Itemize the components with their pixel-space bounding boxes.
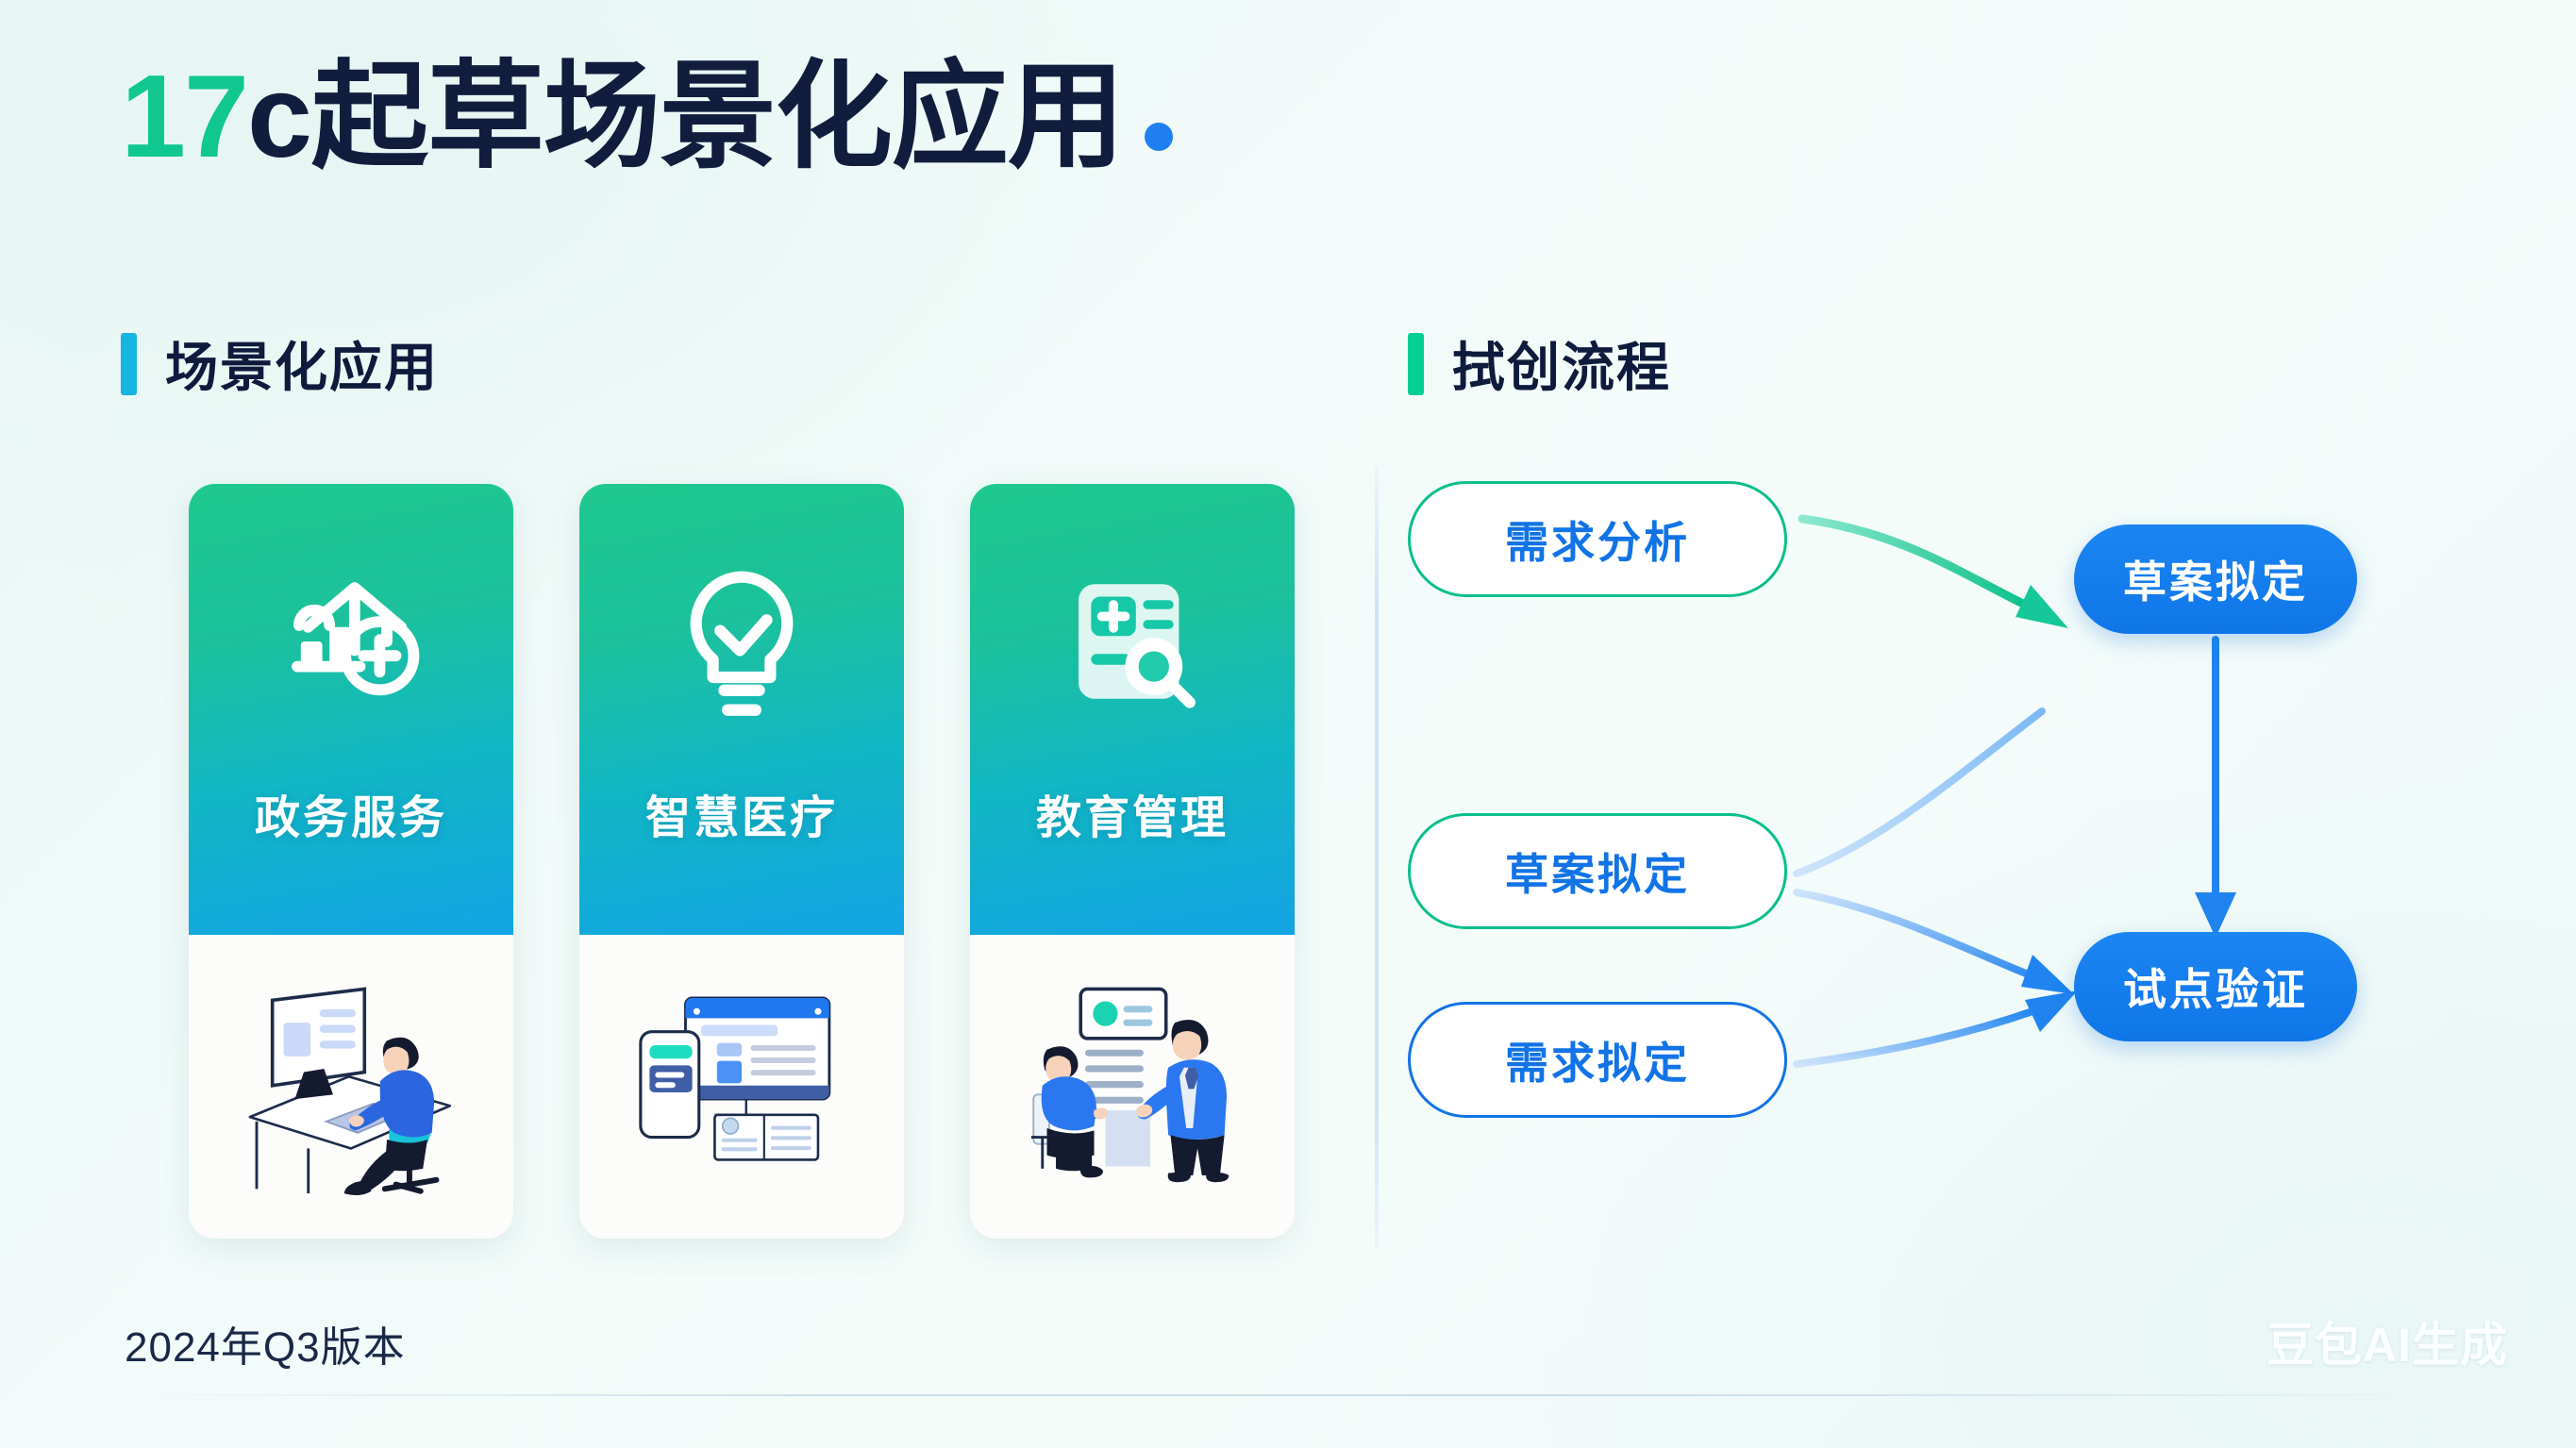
browser-phone-card-illustration (605, 969, 878, 1205)
flow-node-label: 需求拟定 (1505, 1029, 1690, 1091)
flow-node-draft-left[interactable]: 草案拟定 (1408, 813, 1787, 929)
flow-node-draft-right[interactable]: 草案拟定 (2074, 524, 2357, 634)
flow-node-req-analysis[interactable]: 需求分析 (1408, 481, 1787, 597)
flow-node-req-draft[interactable]: 需求拟定 (1408, 1002, 1787, 1118)
section-accent-bar-icon (121, 333, 137, 395)
scenario-card-label: 政务服务 (255, 780, 447, 846)
section-header-right: 拭创流程 (1408, 325, 1671, 402)
page-title: 17 c起草场景化应用 (121, 58, 1173, 175)
calculator-search-icon (1043, 552, 1222, 731)
flow-node-label: 试点验证 (2123, 956, 2308, 1018)
scenario-card[interactable]: 政务服务 (189, 484, 513, 1239)
column-divider (1375, 466, 1379, 1249)
ai-watermark: 豆包AI生成 (2267, 1307, 2508, 1375)
person-at-desk-illustration (214, 969, 488, 1205)
scenario-card-header: 政务服务 (189, 484, 513, 935)
page-title-accent: 17 (121, 58, 247, 175)
section-header-right-label: 拭创流程 (1452, 325, 1671, 402)
scenario-card-list: 政务服务 (189, 484, 1295, 1239)
scenario-card[interactable]: 智慧医疗 (579, 484, 904, 1239)
scenario-card-illustration-area (970, 935, 1295, 1239)
version-note: 2024年Q3版本 (125, 1313, 406, 1373)
house-bar-chart-plus-icon (261, 552, 441, 731)
scenario-card-label: 教育管理 (1036, 780, 1229, 846)
flow-node-label: 需求分析 (1505, 508, 1690, 571)
scenario-card-illustration-area (189, 935, 513, 1239)
scenario-card-label: 智慧医疗 (645, 780, 838, 846)
two-people-meeting-illustration (995, 969, 1269, 1205)
lightbulb-check-icon (652, 552, 831, 731)
footer-divider (125, 1394, 2455, 1396)
process-flow-diagram: 需求分析 草案拟定 需求拟定 草案拟定 试点验证 (1408, 466, 2465, 1258)
slide-canvas: 17 c起草场景化应用 场景化应用 拭创流程 (0, 0, 2576, 1448)
flow-node-label: 草案拟定 (1505, 841, 1690, 903)
section-accent-bar-icon (1408, 333, 1424, 395)
scenario-card-header: 教育管理 (970, 484, 1295, 935)
section-header-left: 场景化应用 (121, 325, 439, 402)
flow-node-label: 草案拟定 (2123, 548, 2308, 610)
section-header-left-label: 场景化应用 (165, 325, 439, 402)
scenario-card[interactable]: 教育管理 (970, 484, 1295, 1239)
scenario-card-illustration-area (579, 935, 904, 1239)
title-dot-icon (1145, 123, 1173, 151)
scenario-card-header: 智慧医疗 (579, 484, 904, 935)
flow-node-pilot[interactable]: 试点验证 (2074, 932, 2357, 1041)
page-title-main: c起草场景化应用 (247, 58, 1124, 175)
